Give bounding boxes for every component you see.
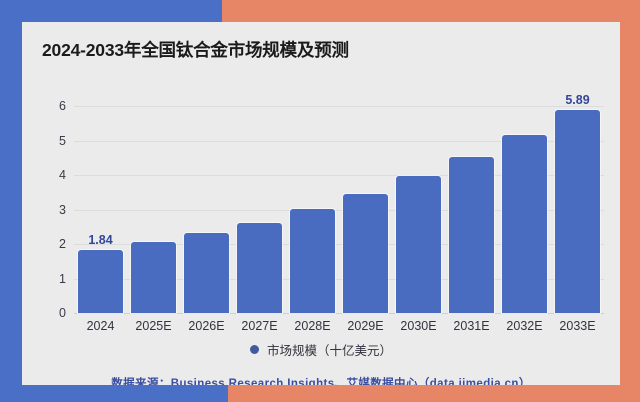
bar-slot: 2026E <box>180 88 233 313</box>
x-axis-tick-label: 2026E <box>180 319 233 333</box>
chart-card: 2024-2033年全国钛合金市场规模及预测 0123456 1.8420242… <box>22 22 620 385</box>
x-axis-tick-label: 2028E <box>286 319 339 333</box>
y-axis-tick-label: 5 <box>44 134 66 148</box>
bar-slot: 1.842024 <box>74 88 127 313</box>
bar[interactable] <box>396 176 441 313</box>
gridline <box>74 313 604 314</box>
source-note: 数据来源：Business Research Insights、艾媒数据中心（d… <box>22 375 620 385</box>
x-axis-tick-label: 2024 <box>74 319 127 333</box>
x-axis-tick-label: 2033E <box>551 319 604 333</box>
bar-slot: 2025E <box>127 88 180 313</box>
bar-value-label: 5.89 <box>551 93 604 107</box>
bar[interactable] <box>343 194 388 313</box>
bar-series: 1.8420242025E2026E2027E2028E2029E2030E20… <box>74 88 604 313</box>
plot-area: 0123456 1.8420242025E2026E2027E2028E2029… <box>44 88 604 313</box>
chart-frame: 2024-2033年全国钛合金市场规模及预测 0123456 1.8420242… <box>0 0 640 402</box>
bar[interactable] <box>184 233 229 313</box>
bar[interactable] <box>555 110 600 313</box>
chart-legend: 市场规模（十亿美元） <box>22 340 620 359</box>
y-axis-tick-label: 2 <box>44 237 66 251</box>
y-axis-tick-label: 3 <box>44 203 66 217</box>
legend-label: 市场规模（十亿美元） <box>267 340 392 359</box>
y-axis-tick-label: 4 <box>44 168 66 182</box>
bar[interactable] <box>131 242 176 313</box>
decor-band-left-blue <box>0 0 22 385</box>
y-axis-tick-label: 6 <box>44 99 66 113</box>
decor-band-bottom-blue <box>0 385 228 402</box>
bar-slot: 2028E <box>286 88 339 313</box>
bar[interactable] <box>237 223 282 313</box>
decor-band-top-orange <box>222 0 640 22</box>
bar[interactable] <box>290 209 335 313</box>
x-axis-tick-label: 2025E <box>127 319 180 333</box>
bar-slot: 2029E <box>339 88 392 313</box>
bar-slot: 2031E <box>445 88 498 313</box>
x-axis-tick-label: 2027E <box>233 319 286 333</box>
y-axis-tick-label: 0 <box>44 306 66 320</box>
decor-band-top-blue <box>0 0 222 22</box>
decor-band-bottom-orange <box>228 385 640 402</box>
x-axis-tick-label: 2029E <box>339 319 392 333</box>
bar[interactable] <box>502 135 547 313</box>
x-axis-tick-label: 2031E <box>445 319 498 333</box>
bar-slot: 2030E <box>392 88 445 313</box>
bar-slot: 2032E <box>498 88 551 313</box>
y-axis-tick-label: 1 <box>44 272 66 286</box>
bar[interactable] <box>449 157 494 313</box>
x-axis-tick-label: 2030E <box>392 319 445 333</box>
decor-band-right-orange <box>620 0 640 402</box>
x-axis-tick-label: 2032E <box>498 319 551 333</box>
bar-slot: 5.892033E <box>551 88 604 313</box>
legend-swatch-icon <box>250 345 259 354</box>
chart-title: 2024-2033年全国钛合金市场规模及预测 <box>42 37 349 62</box>
bar-value-label: 1.84 <box>74 233 127 247</box>
bar-slot: 2027E <box>233 88 286 313</box>
bar[interactable] <box>78 250 123 313</box>
